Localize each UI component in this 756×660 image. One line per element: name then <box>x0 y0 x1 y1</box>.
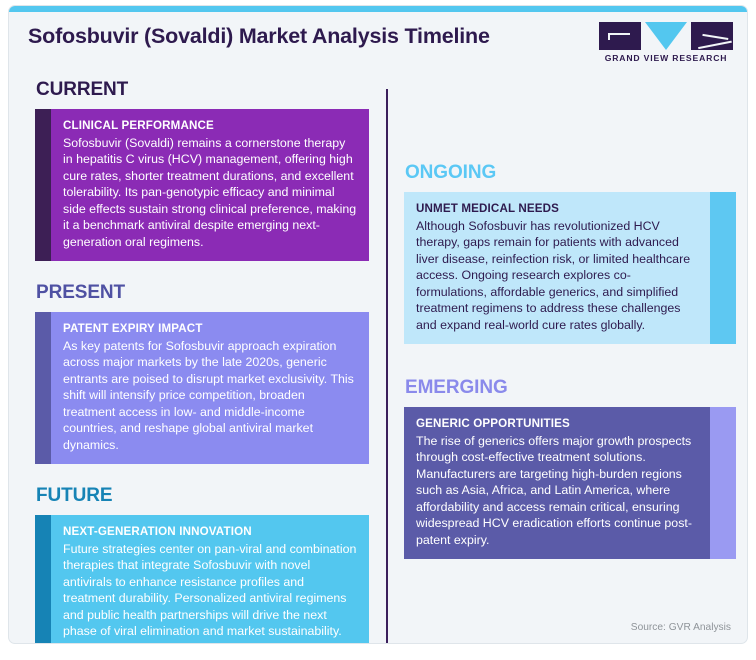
card-accent-bar <box>35 312 51 464</box>
stage-label-current: CURRENT <box>36 80 369 100</box>
spacer <box>404 344 736 378</box>
card-accent-bar <box>35 109 51 261</box>
card-body: NEXT-GENERATION INNOVATION Future strate… <box>51 515 369 644</box>
logo-v-triangle-icon <box>645 22 687 50</box>
timeline-divider <box>386 89 388 644</box>
card-body: GENERIC OPPORTUNITIES The rise of generi… <box>404 407 710 559</box>
grand-view-research-logo: GRAND VIEW RESEARCH <box>599 22 733 68</box>
card-title: NEXT-GENERATION INNOVATION <box>63 524 357 540</box>
stage-label-emerging: EMERGING <box>405 378 736 398</box>
card-title: PATENT EXPIRY IMPACT <box>63 321 357 337</box>
logo-g-icon <box>599 22 641 50</box>
stage-present: PRESENT PATENT EXPIRY IMPACT As key pate… <box>35 283 369 464</box>
stage-label-future: FUTURE <box>36 486 369 506</box>
infographic-canvas: Sofosbuvir (Sovaldi) Market Analysis Tim… <box>8 5 748 644</box>
card-generic-opportunities[interactable]: GENERIC OPPORTUNITIES The rise of generi… <box>404 407 736 559</box>
card-text: Although Sofosbuvir has revolutionized H… <box>416 218 698 334</box>
logo-wordmark: GRAND VIEW RESEARCH <box>599 53 733 63</box>
card-title: UNMET MEDICAL NEEDS <box>416 201 698 217</box>
right-timeline-column: ONGOING UNMET MEDICAL NEEDS Although Sof… <box>404 163 736 559</box>
stage-emerging: EMERGING GENERIC OPPORTUNITIES The rise … <box>404 378 736 559</box>
left-timeline-column: CURRENT CLINICAL PERFORMANCE Sofosbuvir … <box>35 80 369 644</box>
card-text: As key patents for Sofosbuvir approach e… <box>63 338 357 454</box>
header: Sofosbuvir (Sovaldi) Market Analysis Tim… <box>9 12 747 74</box>
card-accent-bar <box>35 515 51 644</box>
card-patent-expiry-impact[interactable]: PATENT EXPIRY IMPACT As key patents for … <box>35 312 369 464</box>
card-text: Future strategies center on pan-viral an… <box>63 541 357 640</box>
card-unmet-medical-needs[interactable]: UNMET MEDICAL NEEDS Although Sofosbuvir … <box>404 192 736 344</box>
card-accent-bar <box>710 192 736 344</box>
card-clinical-performance[interactable]: CLINICAL PERFORMANCE Sofosbuvir (Sovaldi… <box>35 109 369 261</box>
card-accent-bar <box>710 407 736 559</box>
card-body: PATENT EXPIRY IMPACT As key patents for … <box>51 312 369 464</box>
stage-label-present: PRESENT <box>36 283 369 303</box>
card-body: UNMET MEDICAL NEEDS Although Sofosbuvir … <box>404 192 710 344</box>
logo-marks <box>599 22 733 50</box>
stage-current: CURRENT CLINICAL PERFORMANCE Sofosbuvir … <box>35 80 369 261</box>
logo-r-icon <box>691 22 733 50</box>
card-title: GENERIC OPPORTUNITIES <box>416 416 698 432</box>
card-text: The rise of generics offers major growth… <box>416 433 698 549</box>
card-title: CLINICAL PERFORMANCE <box>63 118 357 134</box>
spacer <box>35 464 369 486</box>
card-text: Sofosbuvir (Sovaldi) remains a cornersto… <box>63 135 357 251</box>
card-body: CLINICAL PERFORMANCE Sofosbuvir (Sovaldi… <box>51 109 369 261</box>
stage-future: FUTURE NEXT-GENERATION INNOVATION Future… <box>35 486 369 644</box>
card-next-generation-innovation[interactable]: NEXT-GENERATION INNOVATION Future strate… <box>35 515 369 644</box>
spacer <box>35 261 369 283</box>
stage-label-ongoing: ONGOING <box>405 163 736 183</box>
source-note: Source: GVR Analysis <box>631 622 731 633</box>
stage-ongoing: ONGOING UNMET MEDICAL NEEDS Although Sof… <box>404 163 736 344</box>
page-title: Sofosbuvir (Sovaldi) Market Analysis Tim… <box>28 24 490 49</box>
